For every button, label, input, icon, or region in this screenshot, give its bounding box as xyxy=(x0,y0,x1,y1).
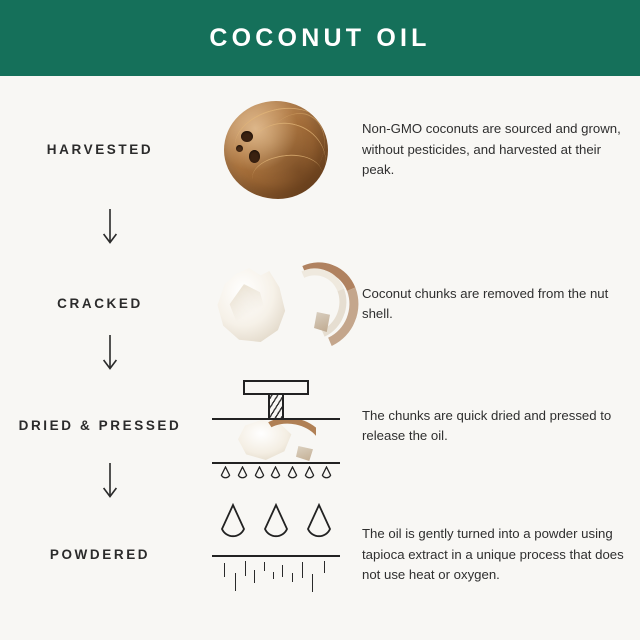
oil-droplet-icon xyxy=(254,466,265,481)
step-description-cracked: Coconut chunks are removed from the nut … xyxy=(352,284,640,325)
step-label-dried-pressed: DRIED & PRESSED xyxy=(0,416,200,437)
step-visual-harvested xyxy=(200,94,352,206)
powder-particle xyxy=(324,561,325,573)
coconut-eye xyxy=(241,131,253,142)
oil-droplet-icon xyxy=(287,466,298,481)
press-plate-bottom xyxy=(212,462,340,464)
oil-droplet-icon xyxy=(218,503,248,547)
step-visual-dried-pressed xyxy=(200,374,352,478)
step-description-dried-pressed: The chunks are quick dried and pressed t… xyxy=(352,406,640,447)
powder-drops-icon xyxy=(210,503,342,607)
step-row: HARVESTED Non-GMO coconuts are sourced a… xyxy=(0,94,640,206)
coconut-eye xyxy=(236,145,243,152)
powder-particles xyxy=(218,561,336,605)
press-handle-bar xyxy=(243,380,309,395)
oil-press-icon xyxy=(210,378,342,474)
oil-droplet-icon xyxy=(321,466,332,481)
step-description-powdered: The oil is gently turned into a powder u… xyxy=(352,524,640,585)
cracked-coconut-icon xyxy=(210,262,342,346)
powder-particle xyxy=(302,562,303,578)
step-label-harvested: HARVESTED xyxy=(0,140,200,161)
oil-droplet-icon xyxy=(270,466,281,481)
large-droplets-row xyxy=(218,503,334,547)
powder-particle xyxy=(235,573,236,591)
powder-particle xyxy=(254,570,255,583)
process-steps: HARVESTED Non-GMO coconuts are sourced a… xyxy=(0,76,640,640)
press-screw-shaft xyxy=(268,395,284,418)
powder-particle xyxy=(282,565,283,577)
step-description-harvested: Non-GMO coconuts are sourced and grown, … xyxy=(352,119,640,180)
arrow-down-icon xyxy=(88,208,132,248)
powder-particle xyxy=(264,562,265,571)
step-label-cracked: CRACKED xyxy=(0,294,200,315)
arrow-down-icon xyxy=(88,462,132,502)
arrow-down-icon xyxy=(88,334,132,374)
page-title: COCONUT OIL xyxy=(209,24,430,53)
step-row: POWDERED xyxy=(0,500,640,610)
whole-coconut-icon xyxy=(224,101,328,199)
pressed-coconut-meat xyxy=(236,420,316,461)
oil-droplet-icon xyxy=(237,466,248,481)
powder-divider-line xyxy=(212,555,340,557)
oil-droplet-icon xyxy=(304,503,334,547)
powder-particle xyxy=(312,574,313,592)
step-visual-cracked xyxy=(200,252,352,356)
powder-particle xyxy=(292,573,293,582)
oil-droplet-icon xyxy=(261,503,291,547)
oil-droplet-icon xyxy=(304,466,315,481)
powder-particle xyxy=(224,563,225,577)
powder-particle xyxy=(245,561,246,576)
step-visual-powdered xyxy=(200,500,352,610)
page-header: COCONUT OIL xyxy=(0,0,640,76)
oil-droplet-icon xyxy=(220,466,231,481)
coconut-eye xyxy=(249,150,260,163)
oil-droplets-row xyxy=(220,466,332,481)
infographic-page: COCONUT OIL HARVESTED Non-GMO coconuts a… xyxy=(0,0,640,640)
step-label-powdered: POWDERED xyxy=(0,545,200,566)
powder-particle xyxy=(273,572,274,579)
